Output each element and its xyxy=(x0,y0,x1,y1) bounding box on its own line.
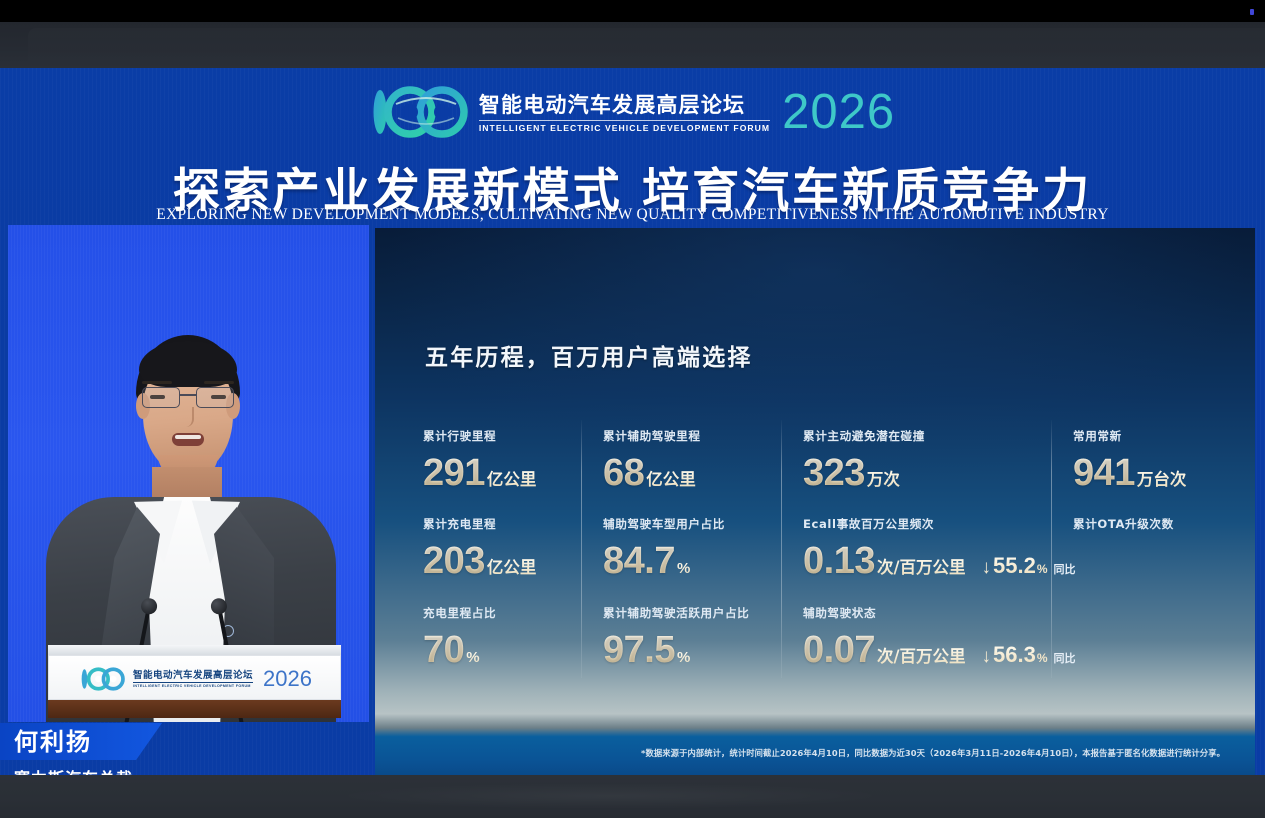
stat-unit: 亿公里 xyxy=(646,466,696,490)
stat-total-adas-mileage: 累计辅助驾驶里程 68 亿公里 xyxy=(603,428,701,493)
conference-headline-en: EXPLORING NEW DEVELOPMENT MODELS, CULTIV… xyxy=(0,206,1265,224)
podium-forum-logo-icon xyxy=(79,666,127,692)
stat-number: 0.07 xyxy=(803,630,875,670)
speaker-name: 何利扬 xyxy=(14,725,92,759)
conference-logo: 智能电动汽车发展高层论坛 INTELLIGENT ELECTRIC VEHICL… xyxy=(0,84,1265,140)
presentation-slide: 五年历程，百万用户高端选择 累计行驶里程 291 亿公里 累计充电里程 xyxy=(375,228,1255,775)
stat-ecall-accident-frequency: Ecall事故百万公里频次 0.13 次/百万公里 ↓ 55.2 % 同比 xyxy=(803,516,1076,581)
window-bottom-bar xyxy=(0,775,1265,818)
stat-label: 累计行驶里程 xyxy=(423,428,536,444)
arrow-down-icon: ↓ xyxy=(982,646,992,668)
podium-wood-band xyxy=(48,700,341,718)
delta-unit: % xyxy=(1037,651,1048,665)
window-toolbar-area xyxy=(0,22,1265,68)
delta-number: 56.3 xyxy=(993,642,1036,668)
stat-label: 辅助驾驶状态 xyxy=(803,605,1076,621)
column-divider xyxy=(581,420,582,678)
conference-logo-text: 智能电动汽车发展高层论坛 INTELLIGENT ELECTRIC VEHICL… xyxy=(479,92,770,133)
stat-unit: 次/百万公里 xyxy=(877,643,966,667)
status-indicator-dot xyxy=(1250,9,1254,15)
stat-value: 203 亿公里 xyxy=(423,541,536,581)
stat-number: 291 xyxy=(423,453,485,493)
stat-unit: 次/百万公里 xyxy=(877,554,966,578)
slide-title: 五年历程，百万用户高端选择 xyxy=(425,338,753,372)
stat-value: 941 万台次 xyxy=(1073,453,1186,493)
stat-total-charging-mileage: 累计充电里程 203 亿公里 xyxy=(423,516,536,581)
bottom-bar-glow xyxy=(330,783,890,809)
stat-adas-state-frequency: 辅助驾驶状态 0.07 次/百万公里 ↓ 56.3 % 同比 xyxy=(803,605,1076,670)
stat-total-driving-mileage: 累计行驶里程 291 亿公里 xyxy=(423,428,536,493)
stats-grid: 累计行驶里程 291 亿公里 累计充电里程 203 亿公里 xyxy=(423,428,1213,693)
conference-year: 2026 xyxy=(782,86,895,138)
stat-ota-sublabel-wrap: 累计OTA升级次数 xyxy=(1073,516,1174,532)
conference-header: 智能电动汽车发展高层论坛 INTELLIGENT ELECTRIC VEHICL… xyxy=(0,68,1265,228)
stat-value: 0.07 次/百万公里 ↓ 56.3 % 同比 xyxy=(803,630,1076,670)
stat-number: 97.5 xyxy=(603,630,675,670)
conference-name-en: INTELLIGENT ELECTRIC VEHICLE DEVELOPMENT… xyxy=(479,123,770,133)
column-divider xyxy=(1051,420,1052,678)
speaker-nose xyxy=(182,407,194,427)
screen: 智能电动汽车发展高层论坛 INTELLIGENT ELECTRIC VEHICL… xyxy=(0,0,1265,818)
stat-number: 84.7 xyxy=(603,541,675,581)
stat-adas-active-user-ratio: 累计辅助驾驶活跃用户占比 97.5 % xyxy=(603,605,749,670)
stat-label: 辅助驾驶车型用户占比 xyxy=(603,516,725,532)
podium-logo: 智能电动汽车发展高层论坛 INTELLIGENT ELECTRIC VEHICL… xyxy=(49,656,342,701)
stat-label: 累计辅助驾驶活跃用户占比 xyxy=(603,605,749,621)
stats-column-4: 常用常新 941 万台次 累计OTA升级次数 xyxy=(1051,428,1213,693)
speaker-mouth xyxy=(172,433,204,446)
stat-number: 203 xyxy=(423,541,485,581)
stat-number: 323 xyxy=(803,453,865,493)
stat-number: 70 xyxy=(423,630,464,670)
stat-unit: % xyxy=(466,649,479,666)
stat-label: 累计主动避免潜在碰撞 xyxy=(803,428,925,444)
stat-number: 941 xyxy=(1073,453,1135,493)
stat-number: 0.13 xyxy=(803,541,875,581)
stat-label: 常用常新 xyxy=(1073,428,1186,444)
speaker-glasses xyxy=(140,387,236,409)
podium-conference-name-en: INTELLIGENT ELECTRIC VEHICLE DEVELOPMENT… xyxy=(133,684,253,688)
arrow-down-icon: ↓ xyxy=(982,557,992,579)
stat-unit: 亿公里 xyxy=(487,554,537,578)
stat-unit: % xyxy=(677,649,690,666)
podium-front-panel: 智能电动汽车发展高层论坛 INTELLIGENT ELECTRIC VEHICL… xyxy=(48,655,341,700)
video-stage[interactable]: 智能电动汽车发展高层论坛 INTELLIGENT ELECTRIC VEHICL… xyxy=(0,68,1265,775)
stat-unit: 亿公里 xyxy=(487,466,537,490)
stats-column-2: 累计辅助驾驶里程 68 亿公里 辅助驾驶车型用户占比 84.7 % xyxy=(581,428,781,693)
podium-conference-name-cn: 智能电动汽车发展高层论坛 xyxy=(133,670,253,681)
logo-divider xyxy=(479,120,770,121)
conference-name-cn: 智能电动汽车发展高层论坛 xyxy=(479,92,745,118)
podium-conference-year: 2026 xyxy=(263,666,312,692)
stat-value: 68 亿公里 xyxy=(603,453,701,493)
stats-column-3: 累计主动避免潜在碰撞 323 万次 Ecall事故百万公里频次 0.13 次/百… xyxy=(781,428,1051,693)
delta-number: 55.2 xyxy=(993,553,1036,579)
stat-charging-mileage-ratio: 充电里程占比 70 % xyxy=(423,605,496,670)
stats-column-1: 累计行驶里程 291 亿公里 累计充电里程 203 亿公里 xyxy=(423,428,581,693)
podium-top xyxy=(48,645,341,655)
column-divider xyxy=(781,420,782,678)
stat-ota-upgrades: 常用常新 941 万台次 xyxy=(1073,428,1186,493)
stat-value: 84.7 % xyxy=(603,541,725,581)
stat-number: 68 xyxy=(603,453,644,493)
stat-value: 291 亿公里 xyxy=(423,453,536,493)
speaker-portrait xyxy=(130,335,246,485)
window-top-black-bar xyxy=(0,0,1265,22)
stat-value: 0.13 次/百万公里 ↓ 55.2 % 同比 xyxy=(803,541,1076,581)
speaker-nameplate: 何利扬 赛力斯汽车总裁 xyxy=(0,723,360,775)
stat-label: 充电里程占比 xyxy=(423,605,496,621)
slide-footnote: *数据来源于内部统计，统计时间截止2026年4月10日，同比数据为近30天（20… xyxy=(375,747,1225,759)
stat-label: Ecall事故百万公里频次 xyxy=(803,516,1076,532)
stat-unit: % xyxy=(677,560,690,577)
stat-collisions-avoided: 累计主动避免潜在碰撞 323 万次 xyxy=(803,428,925,493)
stat-value: 70 % xyxy=(423,630,496,670)
stat-unit: 万台次 xyxy=(1137,466,1187,490)
stat-value: 97.5 % xyxy=(603,630,749,670)
stat-label: 累计充电里程 xyxy=(423,516,536,532)
forum-100-logo-icon xyxy=(370,84,470,140)
speaker-brow-left xyxy=(142,381,172,384)
speaker-title: 赛力斯汽车总裁 xyxy=(14,765,133,775)
speaker-brow-right xyxy=(204,381,234,384)
stat-unit: 万次 xyxy=(867,466,900,490)
stat-label: 累计辅助驾驶里程 xyxy=(603,428,701,444)
delta-unit: % xyxy=(1037,562,1048,576)
speaker-video-panel: 智能电动汽车发展高层论坛 INTELLIGENT ELECTRIC VEHICL… xyxy=(8,225,369,722)
stat-sublabel: 累计OTA升级次数 xyxy=(1073,516,1174,532)
stat-adas-model-user-ratio: 辅助驾驶车型用户占比 84.7 % xyxy=(603,516,725,581)
stat-value: 323 万次 xyxy=(803,453,925,493)
